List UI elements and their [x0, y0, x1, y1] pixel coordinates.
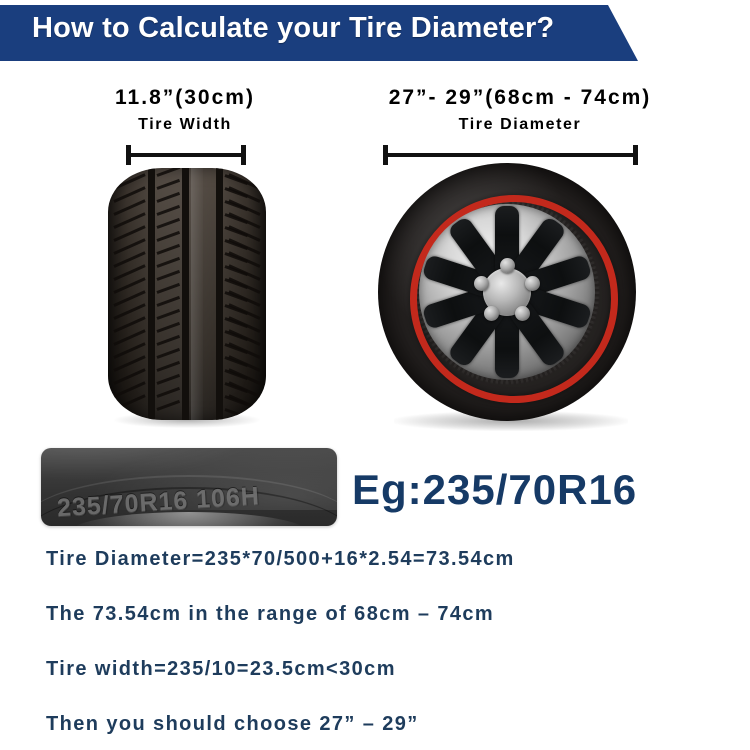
tread-sipe: [156, 179, 180, 190]
tread-sipe: [156, 168, 180, 177]
tread-sipe: [156, 361, 180, 372]
formula-line-diameter: Tire Diameter=235*70/500+16*2.54=73.54cm: [46, 548, 515, 571]
lug-nut: [484, 306, 499, 321]
example-size-label: Eg:235/70R16: [352, 466, 637, 514]
tire-width-value-label: 11.8”(30cm): [60, 86, 310, 110]
tread-sipe: [156, 374, 180, 385]
tread-sipe: [156, 192, 180, 203]
diameter-measure-bar-icon: [383, 145, 638, 165]
tire-diameter-name-label: Tire Diameter: [330, 116, 710, 134]
tread-sipe: [156, 257, 180, 268]
tread-sipe: [156, 296, 180, 307]
formula-line-conclusion: Then you should choose 27” – 29”: [46, 713, 419, 736]
tire-diameter-value-label: 27”- 29”(68cm - 74cm): [330, 86, 710, 110]
tread-groove: [148, 168, 155, 420]
lug-nut: [474, 276, 489, 291]
measure-rail: [126, 153, 246, 157]
tread-sipe: [156, 244, 180, 255]
tire-sidewall-photo: 235/70R16 106H: [41, 448, 337, 526]
alloy-wheel-image: [378, 163, 644, 429]
lug-nut: [500, 258, 515, 273]
page-title: How to Calculate your Tire Diameter?: [32, 12, 554, 45]
tread-sipe: [156, 309, 180, 320]
formula-line-range-check: The 73.54cm in the range of 68cm – 74cm: [46, 603, 494, 626]
tread-body: [108, 168, 266, 420]
tire-tread-image: [108, 168, 266, 426]
wheel-rim: [419, 204, 595, 380]
tread-sipe: [156, 348, 180, 359]
width-measure-bar-icon: [126, 145, 246, 165]
tire-width-name-label: Tire Width: [60, 116, 310, 134]
tread-sipe: [224, 408, 248, 419]
measure-endcap-right: [241, 145, 246, 165]
tread-rib-highlight: [191, 168, 203, 420]
formula-line-width: Tire width=235/10=23.5cm<30cm: [46, 658, 396, 681]
tread-groove: [182, 168, 189, 420]
tread-sipe: [156, 218, 180, 229]
measure-endcap-right: [633, 145, 638, 165]
tread-groove: [216, 168, 223, 420]
tread-sipe: [113, 394, 145, 411]
tread-sipe: [156, 231, 180, 242]
tread-sipe: [156, 400, 180, 411]
tread-sipe: [228, 394, 260, 411]
tread-sipe: [156, 387, 180, 398]
tread-sipe: [156, 205, 180, 216]
tread-sipe: [156, 283, 180, 294]
tread-sipe: [156, 322, 180, 333]
infographic-canvas: How to Calculate your Tire Diameter? 11.…: [0, 0, 750, 750]
measure-rail: [383, 153, 638, 157]
tread-sipe: [156, 335, 180, 346]
tread-sipe: [156, 270, 180, 281]
